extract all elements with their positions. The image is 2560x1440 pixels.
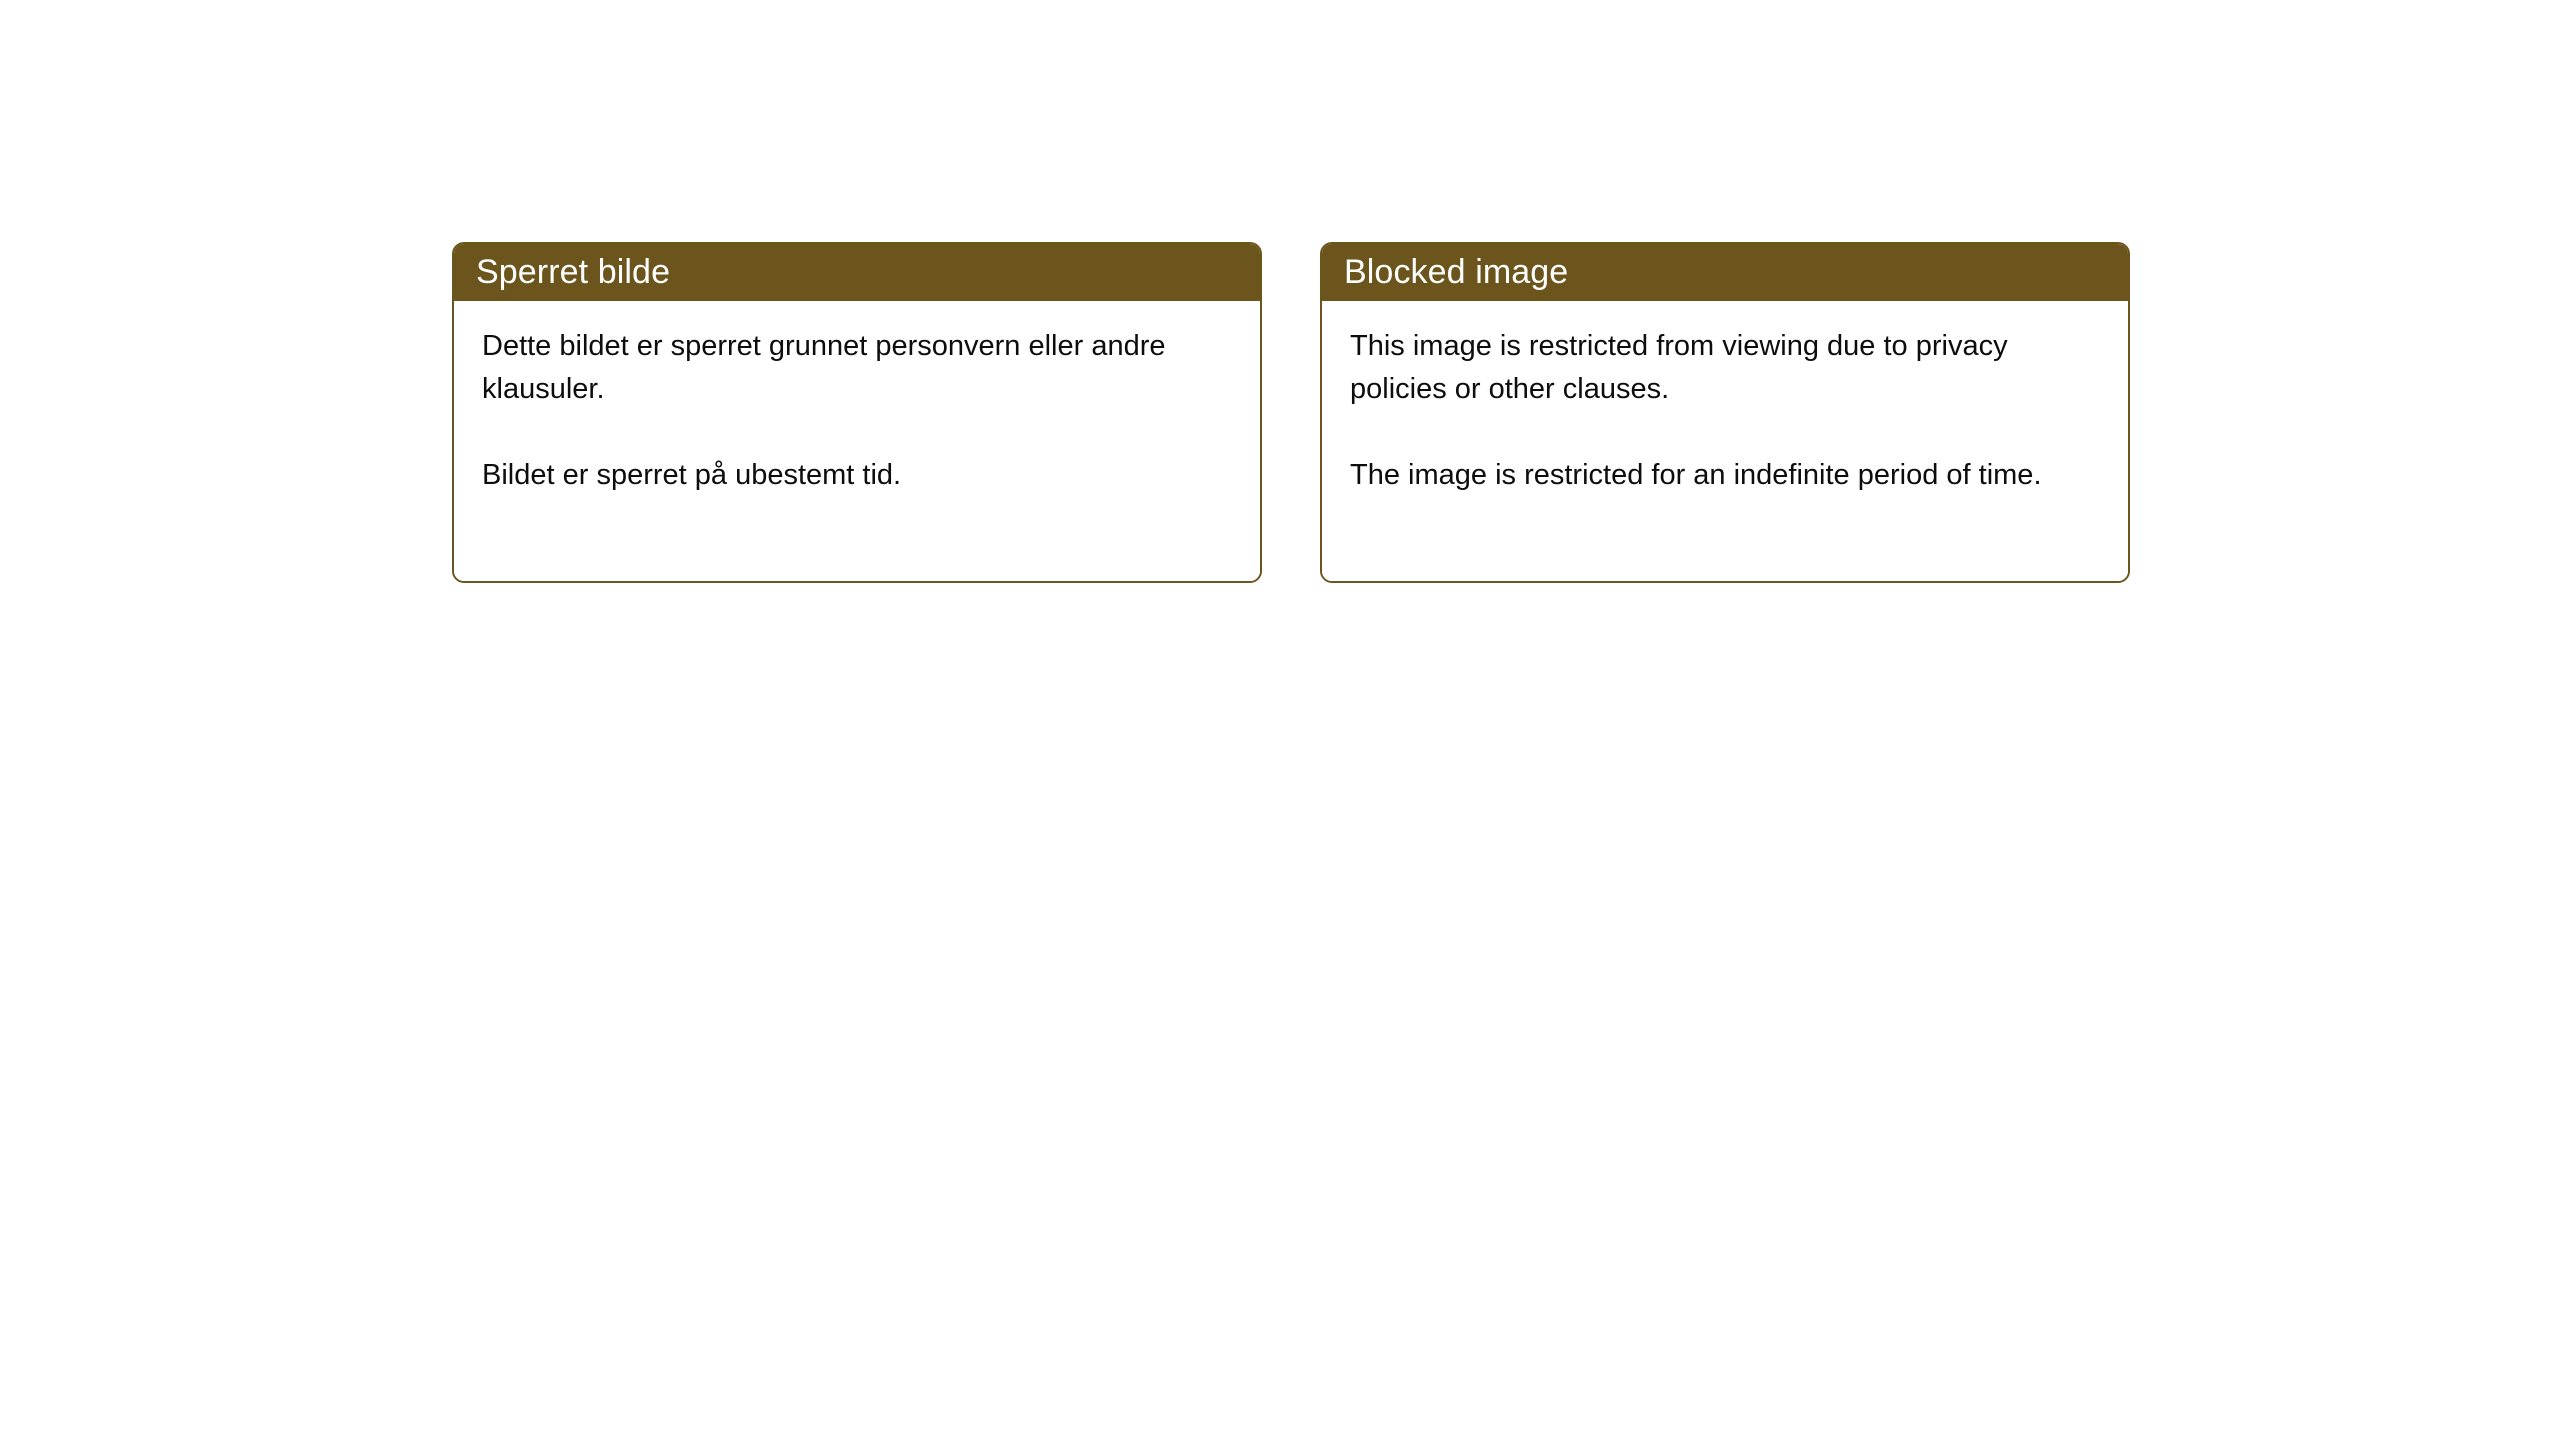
blocked-image-notice-norwegian: Sperret bilde Dette bildet er sperret gr… [452, 242, 1262, 583]
blocked-image-notices: Sperret bilde Dette bildet er sperret gr… [452, 242, 2130, 583]
notice-header-english: Blocked image [1320, 242, 2130, 301]
notice-paragraph-reason-english: This image is restricted from viewing du… [1350, 325, 2100, 411]
notice-body-norwegian: Dette bildet er sperret grunnet personve… [454, 301, 1260, 581]
blocked-image-notice-english: Blocked image This image is restricted f… [1320, 242, 2130, 583]
notice-title-norwegian: Sperret bilde [476, 255, 670, 289]
notice-paragraph-duration-norwegian: Bildet er sperret på ubestemt tid. [482, 454, 1232, 497]
notice-body-english: This image is restricted from viewing du… [1322, 301, 2128, 581]
notice-title-english: Blocked image [1344, 255, 1568, 289]
notice-paragraph-reason-norwegian: Dette bildet er sperret grunnet personve… [482, 325, 1232, 411]
notice-header-norwegian: Sperret bilde [452, 242, 1262, 301]
notice-paragraph-duration-english: The image is restricted for an indefinit… [1350, 454, 2100, 497]
